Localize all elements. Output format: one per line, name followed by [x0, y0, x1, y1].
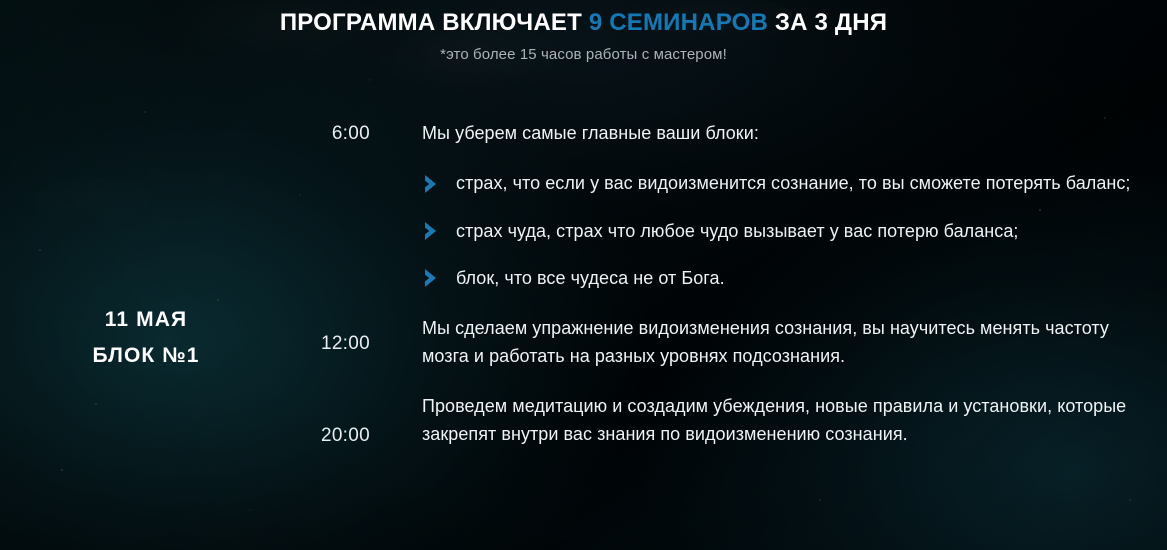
page-header: ПРОГРАММА ВКЛЮЧАЕТ 9 СЕМИНАРОВ ЗА 3 ДНЯ … — [0, 0, 1167, 63]
list-item-text: страх, что если у вас видоизменится созн… — [456, 169, 1153, 197]
list-item-text: блок, что все чудеса не от Бога. — [456, 264, 1153, 292]
page-title-accent: 9 СЕМИНАРОВ — [589, 9, 768, 36]
schedule-row: 6:00 Мы уберем самые главные ваши блоки: — [292, 119, 1153, 292]
schedule-row-body: Мы сделаем упражнение видоизменения созн… — [370, 314, 1153, 370]
program-schedule-page: ПРОГРАММА ВКЛЮЧАЕТ 9 СЕМИНАРОВ ЗА 3 ДНЯ … — [0, 0, 1167, 550]
list-item: блок, что все чудеса не от Бога. — [422, 264, 1153, 292]
schedule-bullet-list: страх, что если у вас видоизменится созн… — [422, 169, 1153, 292]
schedule-row-time: 12:00 — [292, 314, 370, 355]
schedule-row-text: Проведем медитацию и создадим убеждения,… — [422, 392, 1153, 448]
schedule-rows: 6:00 Мы уберем самые главные ваши блоки: — [292, 119, 1167, 449]
schedule-row: 20:00 Проведем медитацию и создадим убеж… — [292, 392, 1153, 448]
page-title: ПРОГРАММА ВКЛЮЧАЕТ 9 СЕМИНАРОВ ЗА 3 ДНЯ — [0, 9, 1167, 37]
chevron-right-icon — [422, 170, 456, 198]
schedule-row-time: 6:00 — [292, 119, 370, 145]
chevron-right-icon — [422, 217, 456, 245]
schedule-row-text: Мы сделаем упражнение видоизменения созн… — [422, 314, 1153, 370]
day-block-label: БЛОК №1 — [0, 338, 292, 374]
schedule-row-body: Проведем медитацию и создадим убеждения,… — [370, 392, 1153, 448]
schedule-row-text: Мы уберем самые главные ваши блоки: — [422, 119, 1153, 147]
day-column: 11 МАЯ БЛОК №1 — [0, 119, 292, 374]
list-item: страх чуда, страх что любое чудо вызывае… — [422, 217, 1153, 245]
schedule-row-time: 20:00 — [292, 392, 370, 447]
schedule-row-body: Мы уберем самые главные ваши блоки: стра… — [370, 119, 1153, 292]
list-item-text: страх чуда, страх что любое чудо вызывае… — [456, 217, 1153, 245]
page-content: ПРОГРАММА ВКЛЮЧАЕТ 9 СЕМИНАРОВ ЗА 3 ДНЯ … — [0, 0, 1167, 550]
list-item: страх, что если у вас видоизменится созн… — [422, 169, 1153, 198]
page-subtitle: *это более 15 часов работы с мастером! — [0, 46, 1167, 63]
schedule-section: 11 МАЯ БЛОК №1 6:00 Мы уберем самые глав… — [0, 119, 1167, 449]
day-date-label: 11 МАЯ — [0, 302, 292, 338]
page-title-part-1: ПРОГРАММА ВКЛЮЧАЕТ — [280, 9, 589, 36]
chevron-right-icon — [422, 264, 456, 292]
page-title-part-2: ЗА 3 ДНЯ — [768, 9, 887, 36]
schedule-row: 12:00 Мы сделаем упражнение видоизменени… — [292, 314, 1153, 370]
